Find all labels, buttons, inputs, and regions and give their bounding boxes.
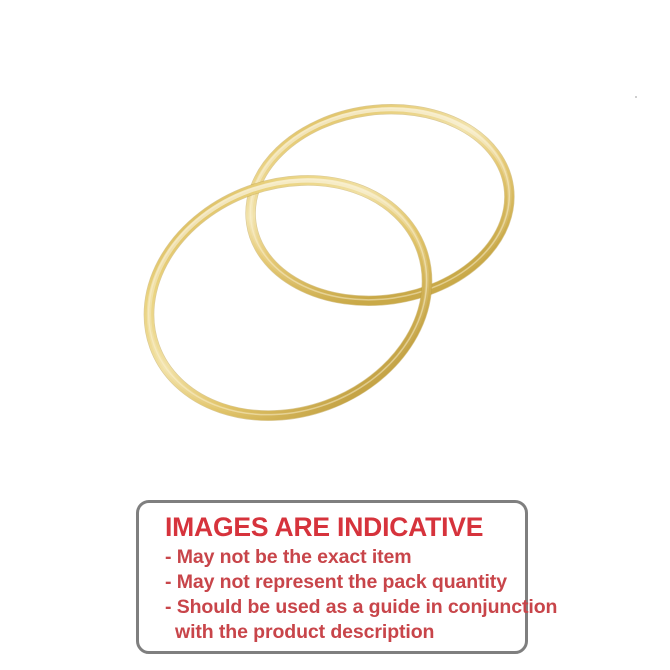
images-are-indicative-notice: IMAGES ARE INDICATIVE - May not be the e… (136, 500, 528, 654)
product-image-view: IMAGES ARE INDICATIVE - May not be the e… (0, 0, 670, 670)
notice-line-2: - May not represent the pack quantity (165, 570, 515, 595)
notice-line-4: with the product description (175, 620, 515, 645)
notice-line-3: - Should be used as a guide in conjuncti… (165, 595, 515, 620)
notice-heading: IMAGES ARE INDICATIVE (165, 511, 515, 543)
o-rings-illustration (0, 0, 670, 480)
image-speck (635, 96, 637, 98)
notice-line-1: - May not be the exact item (165, 545, 515, 570)
product-photo[interactable] (0, 0, 670, 480)
